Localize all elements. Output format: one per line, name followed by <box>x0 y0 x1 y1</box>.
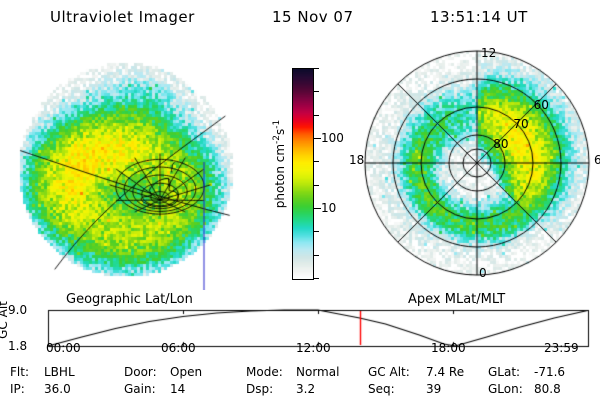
status-value: 80.8 <box>534 383 561 395</box>
status-label: GLat: <box>488 366 520 378</box>
status-label: Flt: <box>10 366 29 378</box>
mlat-ring-label: 80 <box>493 138 508 150</box>
colorbar-tick <box>313 185 319 186</box>
colorbar-bar <box>292 68 314 280</box>
status-label: IP: <box>10 383 25 395</box>
colorbar: 10010 photon cm-2s-1 <box>286 60 348 288</box>
colorbar-axis-title: photon cm-2s-1 <box>272 120 287 209</box>
colorbar-tick <box>313 161 319 162</box>
orbit-y-tick-label: 9.0 <box>8 304 600 316</box>
colorbar-gradient <box>293 69 313 279</box>
status-label: Seq: <box>368 383 395 395</box>
status-value: LBHL <box>44 366 75 378</box>
colorbar-major-tick <box>313 138 321 139</box>
observation-time: 13:51:14 UT <box>430 8 528 26</box>
colorbar-tick <box>313 91 319 92</box>
mlat-ring-label: 70 <box>513 118 528 130</box>
colorbar-tick <box>313 255 319 256</box>
status-value: -71.6 <box>534 366 565 378</box>
mlt-label: 6 <box>594 154 600 166</box>
status-label: Gain: <box>124 383 156 395</box>
mlt-label: 12 <box>481 47 496 59</box>
status-bar: Flt:LBHLDoor:OpenMode:NormalGC Alt:7.4 R… <box>0 362 600 398</box>
colorbar-tick-label: 10 <box>321 202 336 214</box>
colorbar-tick <box>313 115 319 116</box>
orbit-x-tick-label: 18:00 <box>431 342 466 354</box>
orbit-altitude-panel: GC Alt 9.01.8 00:0006:0012:0018:0023:59 <box>0 306 600 358</box>
status-label: Door: <box>124 366 157 378</box>
geographic-image-panel <box>8 42 263 290</box>
page-title: Ultraviolet Imager <box>50 8 195 26</box>
status-value: Open <box>170 366 202 378</box>
colorbar-axis-title-sup2: -1 <box>272 120 282 129</box>
colorbar-tick <box>313 278 319 279</box>
colorbar-axis-title-main: photon cm <box>273 144 287 208</box>
colorbar-axis-title-sup1: -2 <box>272 135 282 144</box>
status-label: GC Alt: <box>368 366 410 378</box>
orbit-x-tick-label: 06:00 <box>161 342 196 354</box>
uvi-display: Ultraviolet Imager 15 Nov 07 13:51:14 UT… <box>0 0 600 400</box>
colorbar-tick <box>313 68 319 69</box>
colorbar-major-tick <box>313 208 321 209</box>
status-label: GLon: <box>488 383 523 395</box>
orbit-x-tick-label: 23:59 <box>544 342 579 354</box>
orbit-x-tick-label: 00:00 <box>46 342 81 354</box>
mlt-label: 0 <box>479 267 487 279</box>
colorbar-axis-title-mid: s <box>273 129 287 135</box>
apex-aurora-canvas <box>352 42 600 290</box>
geographic-aurora-canvas <box>8 42 263 290</box>
status-label: Dsp: <box>246 383 273 395</box>
colorbar-tick <box>313 231 319 232</box>
observation-date: 15 Nov 07 <box>272 8 354 26</box>
colorbar-tick-label: 100 <box>321 132 344 144</box>
orbit-x-tick-label: 12:00 <box>296 342 331 354</box>
mlat-ring-label: 60 <box>534 99 549 111</box>
status-value: Normal <box>296 366 339 378</box>
status-value: 36.0 <box>44 383 71 395</box>
mlt-label: 18 <box>349 154 364 166</box>
status-value: 7.4 Re <box>426 366 464 378</box>
status-label: Mode: <box>246 366 283 378</box>
status-value: 14 <box>170 383 185 395</box>
status-value: 3.2 <box>296 383 315 395</box>
status-value: 39 <box>426 383 441 395</box>
apex-polar-panel: 121860607080 <box>352 42 600 290</box>
